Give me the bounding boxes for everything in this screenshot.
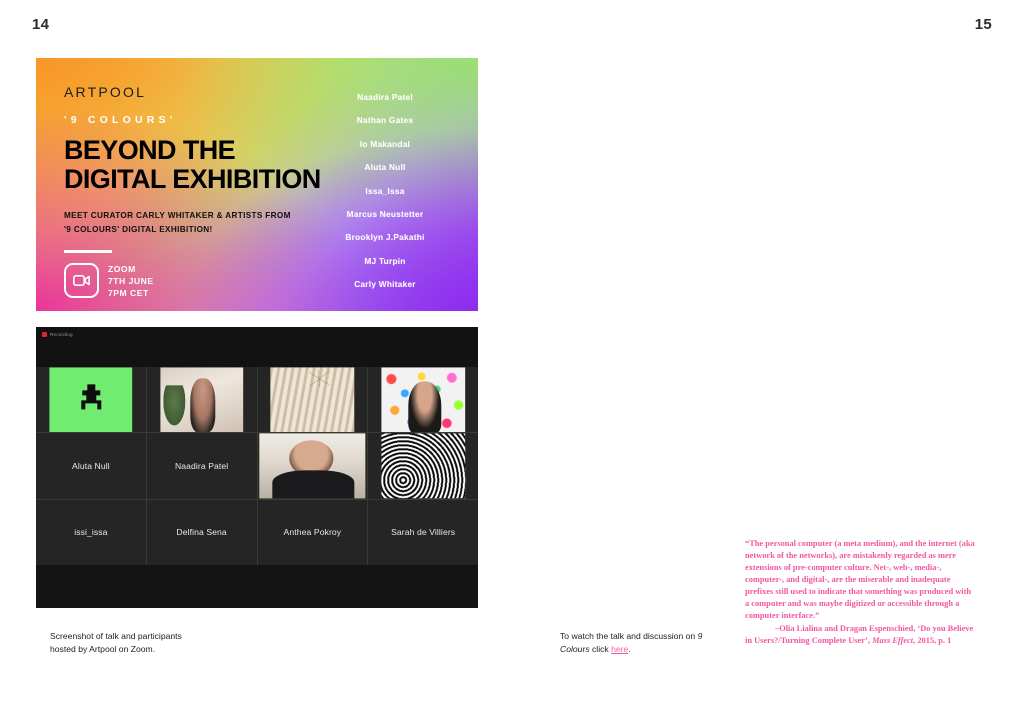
aluta-null-avatar-art — [49, 367, 132, 432]
participant-video — [160, 367, 243, 432]
participant-video — [381, 367, 464, 432]
participant-tile[interactable] — [258, 367, 368, 432]
participant-video — [49, 367, 132, 432]
recording-indicator: Recording — [42, 332, 73, 337]
optical-pattern-video — [381, 433, 464, 498]
artist-item: Issa_Issa — [310, 186, 460, 196]
participant-name: Sarah de Villiers — [391, 527, 455, 537]
participant-name: Aluta Null — [72, 461, 110, 471]
page-number-right: 15 — [975, 16, 992, 33]
poster-title-line1: BEYOND THE — [64, 135, 235, 165]
anthea-pokroy-video — [260, 433, 365, 498]
zoom-meeting-screenshot: Recording Aluta Null Naadira Patel — [36, 327, 478, 608]
participant-tile[interactable]: Delfina Sena — [147, 500, 257, 565]
artist-item: Brooklyn J.Pakathi — [310, 232, 460, 242]
participant-tile[interactable] — [368, 433, 478, 498]
participant-name: Delfina Sena — [176, 527, 226, 537]
poster-subtitle-line1: MEET CURATOR CARLY WHITAKER & ARTISTS FR… — [64, 211, 291, 220]
pull-quote-body: “The personal computer (a meta medium), … — [745, 539, 975, 620]
event-poster: ARTPOOL '9 COLOURS' BEYOND THE DIGITAL E… — [36, 58, 478, 311]
participant-tile[interactable]: Anthea Pokroy — [258, 500, 368, 565]
poster-subtitle-line2: '9 COLOURS' DIGITAL EXHIBITION! — [64, 225, 213, 234]
artist-list: Naadira Patel Nathan Gates Io Makandal A… — [310, 92, 460, 289]
event-platform: ZOOM — [108, 263, 154, 275]
participant-tile-active-speaker[interactable] — [258, 433, 368, 498]
caption-middle-text-before: To watch the talk and discussion on — [560, 631, 698, 641]
participant-video — [271, 367, 354, 432]
pull-quote-attribution-after: , 2015, p. 1 — [913, 636, 951, 645]
event-time: 7PM CET — [108, 287, 154, 299]
caption-left: Screenshot of talk and participants host… — [50, 630, 210, 656]
watch-talk-link[interactable]: here — [611, 644, 628, 654]
pull-quote: “The personal computer (a meta medium), … — [745, 538, 977, 647]
event-when: ZOOM 7TH JUNE 7PM CET — [108, 263, 154, 300]
delfina-sena-video — [271, 367, 354, 432]
participant-name: issi_issa — [74, 527, 107, 537]
zoom-toolbar-area — [36, 566, 478, 608]
artist-item: Nathan Gates — [310, 115, 460, 125]
caption-middle: To watch the talk and discussion on 9 Co… — [560, 630, 730, 656]
caption-middle-text-after: click — [590, 644, 611, 654]
video-camera-icon — [64, 263, 99, 298]
pull-quote-source-title: Mass Effect — [872, 636, 913, 645]
page-number-left: 14 — [32, 16, 49, 33]
participant-tile[interactable] — [368, 367, 478, 432]
pull-quote-attribution: –Olia Lialina and Dragan Espenschied, ‘D… — [745, 623, 977, 647]
caption-middle-period: . — [628, 644, 630, 654]
recording-label: Recording — [50, 332, 73, 337]
participant-tile[interactable]: Naadira Patel — [147, 433, 257, 498]
poster-title-line2: DIGITAL EXHIBITION — [64, 164, 321, 194]
participant-name: Anthea Pokroy — [284, 527, 342, 537]
artist-item: Marcus Neustetter — [310, 209, 460, 219]
divider-rule — [64, 250, 112, 253]
artist-item: Naadira Patel — [310, 92, 460, 102]
recording-dot-icon — [42, 332, 47, 337]
participant-tile[interactable]: Sarah de Villiers — [368, 500, 478, 565]
event-date: 7TH JUNE — [108, 275, 154, 287]
artist-item: Aluta Null — [310, 162, 460, 172]
participant-tile[interactable] — [36, 367, 146, 432]
sarah-de-villiers-video — [381, 367, 464, 432]
artist-item: Io Makandal — [310, 139, 460, 149]
poster-artist-list: Naadira Patel Nathan Gates Io Makandal A… — [310, 92, 460, 303]
artist-item: MJ Turpin — [310, 256, 460, 266]
participant-grid: Aluta Null Naadira Patel issi_issa Delfi… — [36, 367, 478, 565]
naadira-patel-video — [160, 367, 243, 432]
participant-name: Naadira Patel — [175, 461, 228, 471]
participant-tile[interactable] — [147, 367, 257, 432]
participant-tile[interactable]: issi_issa — [36, 500, 146, 565]
participant-video — [260, 433, 365, 498]
participant-tile[interactable]: Aluta Null — [36, 433, 146, 498]
artist-item: Carly Whitaker — [310, 279, 460, 289]
participant-video — [381, 433, 464, 498]
